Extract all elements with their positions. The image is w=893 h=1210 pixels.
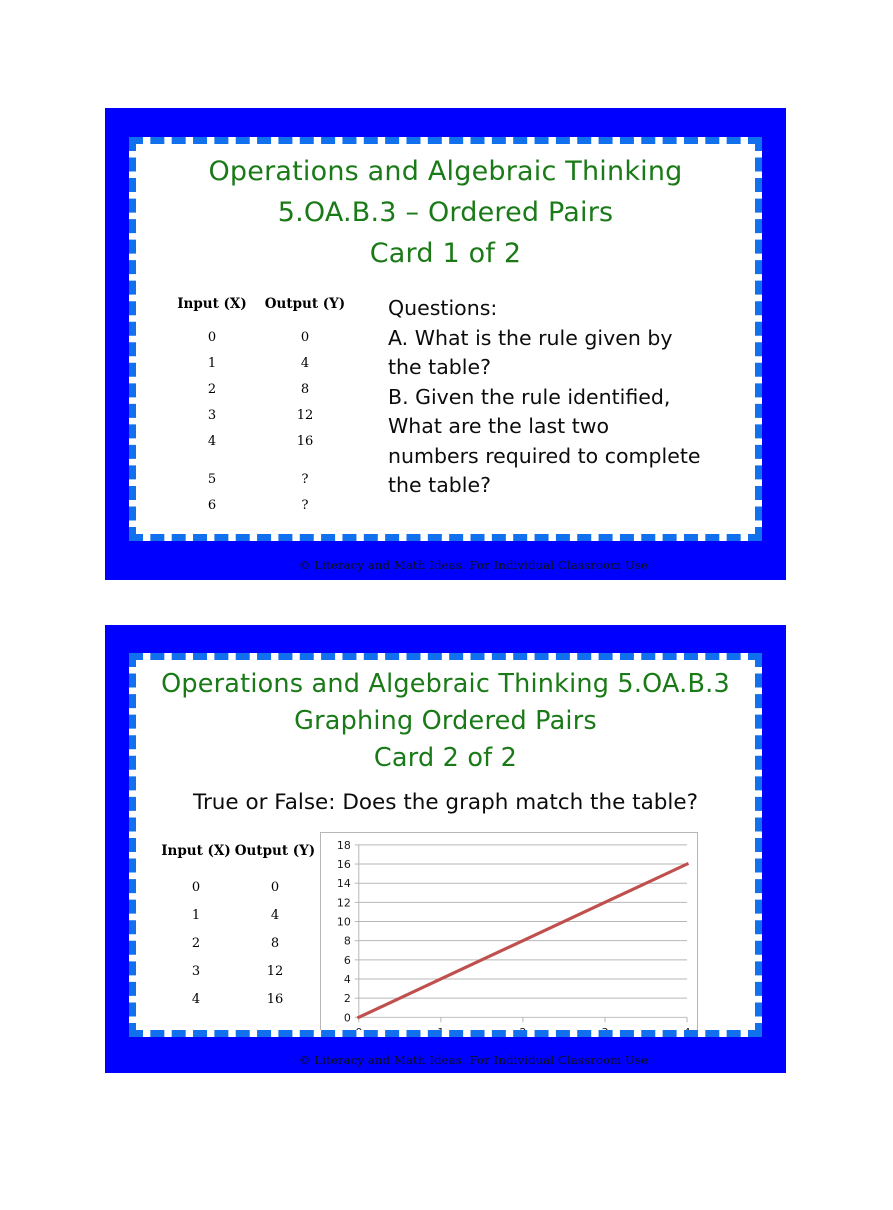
card-2: Operations and Algebraic Thinking 5.OA.B… xyxy=(105,625,786,1073)
card-2-body: Operations and Algebraic Thinking 5.OA.B… xyxy=(136,660,755,1030)
table-row: 0 0 xyxy=(169,324,355,350)
svg-text:4: 4 xyxy=(344,973,351,986)
chart-svg: 024681012141618 01234 xyxy=(321,833,697,1030)
card-2-inner-panel: Operations and Algebraic Thinking 5.OA.B… xyxy=(129,653,762,1037)
svg-text:6: 6 xyxy=(344,954,351,967)
cell-input: 4 xyxy=(169,428,255,454)
card-1-copyright-footer: © Literacy and Math Ideas. For Individua… xyxy=(105,558,786,572)
chart-y-tick-labels: 024681012141618 xyxy=(337,839,351,1024)
cell-output-blank: ? xyxy=(255,454,355,492)
question-line-b4: the table? xyxy=(388,471,755,501)
svg-text:2: 2 xyxy=(519,1026,526,1030)
card-1-title-line-2: 5.OA.B.3 – Ordered Pairs xyxy=(136,192,755,233)
cell-output: 0 xyxy=(234,873,316,901)
svg-text:0: 0 xyxy=(344,1011,351,1024)
cell-input: 3 xyxy=(158,957,234,985)
cell-output: 4 xyxy=(234,901,316,929)
table-row: 5 ? xyxy=(169,454,355,492)
svg-text:12: 12 xyxy=(337,896,351,909)
question-line-b2: What are the last two xyxy=(388,412,755,442)
questions-heading: Questions: xyxy=(388,294,755,324)
card-2-title: Operations and Algebraic Thinking 5.OA.B… xyxy=(136,660,755,777)
column-header-input: Input (X) xyxy=(169,296,255,324)
table-header-row: Input (X) Output (Y) xyxy=(169,296,355,324)
table-row: 1 4 xyxy=(169,350,355,376)
table-row: 3 12 xyxy=(158,957,316,985)
cell-input: 4 xyxy=(158,985,234,1013)
cell-input: 2 xyxy=(158,929,234,957)
chart-gridlines xyxy=(359,845,687,1017)
cell-input: 6 xyxy=(169,492,255,518)
svg-text:2: 2 xyxy=(344,992,351,1005)
table-row: 0 0 xyxy=(158,873,316,901)
svg-text:3: 3 xyxy=(602,1026,609,1030)
table-row: 2 8 xyxy=(158,929,316,957)
cell-output: 16 xyxy=(255,428,355,454)
cell-input: 5 xyxy=(169,454,255,492)
svg-text:8: 8 xyxy=(344,935,351,948)
column-header-input: Input (X) xyxy=(158,843,234,873)
table-row: 6 ? xyxy=(169,492,355,518)
cell-input: 1 xyxy=(158,901,234,929)
svg-text:1: 1 xyxy=(437,1026,444,1030)
input-output-table-card-2: Input (X) Output (Y) 0 0 1 4 2 8 xyxy=(158,843,316,1013)
svg-text:14: 14 xyxy=(337,877,351,890)
input-output-table-card-1: Input (X) Output (Y) 0 0 1 4 xyxy=(169,296,355,518)
cell-output-blank: ? xyxy=(255,492,355,518)
card-1: Operations and Algebraic Thinking 5.OA.B… xyxy=(105,108,786,580)
svg-text:10: 10 xyxy=(337,916,351,929)
svg-text:4: 4 xyxy=(684,1026,691,1030)
question-line-a2: the table? xyxy=(388,353,755,383)
cell-output: 16 xyxy=(234,985,316,1013)
card-2-title-line-2: Graphing Ordered Pairs xyxy=(136,703,755,740)
svg-text:18: 18 xyxy=(337,839,351,852)
cell-input: 3 xyxy=(169,402,255,428)
cell-output: 4 xyxy=(255,350,355,376)
question-line-b1: B. Given the rule identified, xyxy=(388,383,755,413)
column-header-output: Output (Y) xyxy=(234,843,316,873)
card-1-inner-panel: Operations and Algebraic Thinking 5.OA.B… xyxy=(129,137,762,541)
column-header-output: Output (Y) xyxy=(255,296,355,324)
table-header-row: Input (X) Output (Y) xyxy=(158,843,316,873)
card-1-title-line-3: Card 1 of 2 xyxy=(136,233,755,274)
cell-input: 2 xyxy=(169,376,255,402)
card-2-copyright-footer: © Literacy and Math Ideas. For Individua… xyxy=(105,1053,786,1067)
cell-output: 0 xyxy=(255,324,355,350)
cell-output: 8 xyxy=(255,376,355,402)
cell-output: 8 xyxy=(234,929,316,957)
card-1-title-line-1: Operations and Algebraic Thinking xyxy=(136,151,755,192)
ordered-pairs-line-chart: 024681012141618 01234 xyxy=(320,832,698,1030)
card-2-title-line-3: Card 2 of 2 xyxy=(136,740,755,777)
cell-input: 0 xyxy=(169,324,255,350)
cell-output: 12 xyxy=(234,957,316,985)
svg-text:16: 16 xyxy=(337,858,351,871)
table-row: 3 12 xyxy=(169,402,355,428)
table-row: 4 16 xyxy=(169,428,355,454)
true-false-prompt: True or False: Does the graph match the … xyxy=(136,790,755,816)
question-line-b3: numbers required to complete xyxy=(388,442,755,472)
card-1-title: Operations and Algebraic Thinking 5.OA.B… xyxy=(136,144,755,274)
cell-input: 0 xyxy=(158,873,234,901)
cell-output: 12 xyxy=(255,402,355,428)
question-line-a1: A. What is the rule given by xyxy=(388,324,755,354)
table-row: 4 16 xyxy=(158,985,316,1013)
card-2-title-line-1: Operations and Algebraic Thinking 5.OA.B… xyxy=(136,666,755,703)
chart-x-tick-labels: 01234 xyxy=(355,1026,690,1030)
cell-input: 1 xyxy=(169,350,255,376)
questions-block: Questions: A. What is the rule given by … xyxy=(388,294,755,501)
table-row: 1 4 xyxy=(158,901,316,929)
table-row: 2 8 xyxy=(169,376,355,402)
svg-text:0: 0 xyxy=(355,1026,362,1030)
card-1-body: Operations and Algebraic Thinking 5.OA.B… xyxy=(136,144,755,534)
